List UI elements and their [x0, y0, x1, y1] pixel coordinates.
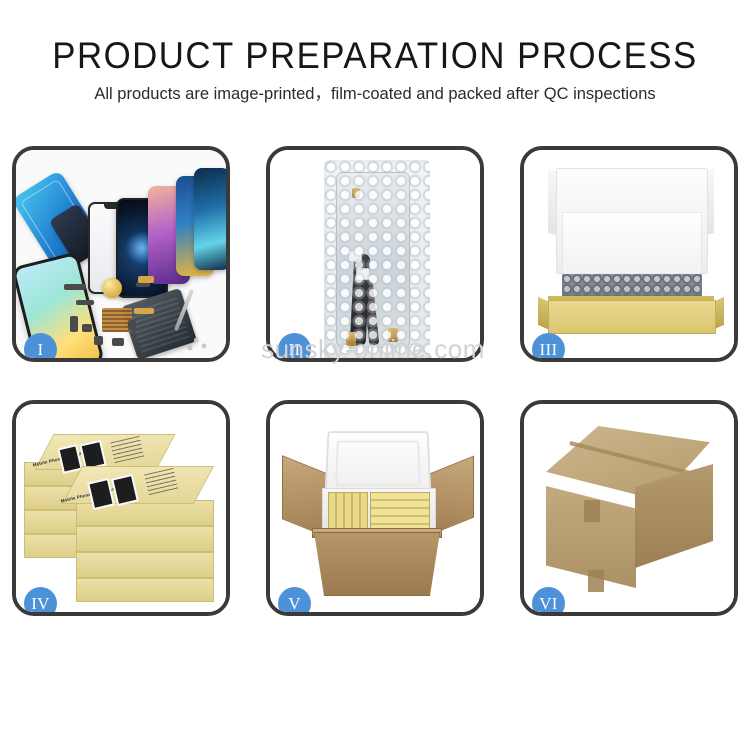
carton-front-panel — [314, 532, 440, 596]
step-badge-6: VI — [532, 587, 565, 612]
process-step-panel-1[interactable]: I — [12, 146, 230, 362]
carton-tape-upper — [584, 500, 600, 522]
process-step-panel-3[interactable]: III — [520, 146, 738, 362]
step-badge-4: IV — [24, 587, 57, 612]
sealed-carton-image: VI — [524, 404, 734, 612]
box-front-yellow — [548, 300, 716, 334]
phone-teal — [194, 168, 226, 270]
carton-tape-lower — [588, 570, 604, 592]
process-step-panel-5[interactable]: V — [266, 400, 484, 616]
page-header: PRODUCT PREPARATION PROCESS All products… — [0, 0, 750, 106]
foam-lid — [324, 431, 431, 497]
bubble-wrapped-part-image: II — [270, 150, 480, 358]
process-step-panel-4[interactable]: Mobile Phone Spare Parts Mobile Phone Sp… — [12, 400, 230, 616]
open-carton-with-boxes-image: V — [270, 404, 480, 612]
open-yellow-box-image: III — [524, 150, 734, 358]
page-title: PRODUCT PREPARATION PROCESS — [23, 34, 728, 78]
step-badge-3: III — [532, 333, 565, 358]
step-badge-5: V — [278, 587, 311, 612]
foam-sheet — [562, 212, 702, 282]
step-badge-1: I — [24, 333, 57, 358]
step-badge-2: II — [278, 333, 311, 358]
process-step-panel-6[interactable]: VI — [520, 400, 738, 616]
phone-parts-overview-image: I — [16, 150, 226, 358]
gold-coil-part — [102, 278, 122, 298]
process-step-grid: I II — [12, 146, 738, 616]
process-step-panel-2[interactable]: II — [266, 146, 484, 362]
stacked-retail-boxes-image: Mobile Phone Spare Parts Mobile Phone Sp… — [16, 404, 226, 612]
yellow-boxes-right — [370, 492, 430, 532]
page-subtitle: All products are image-printed，film-coat… — [0, 82, 750, 106]
yellow-boxes-left — [328, 492, 368, 532]
